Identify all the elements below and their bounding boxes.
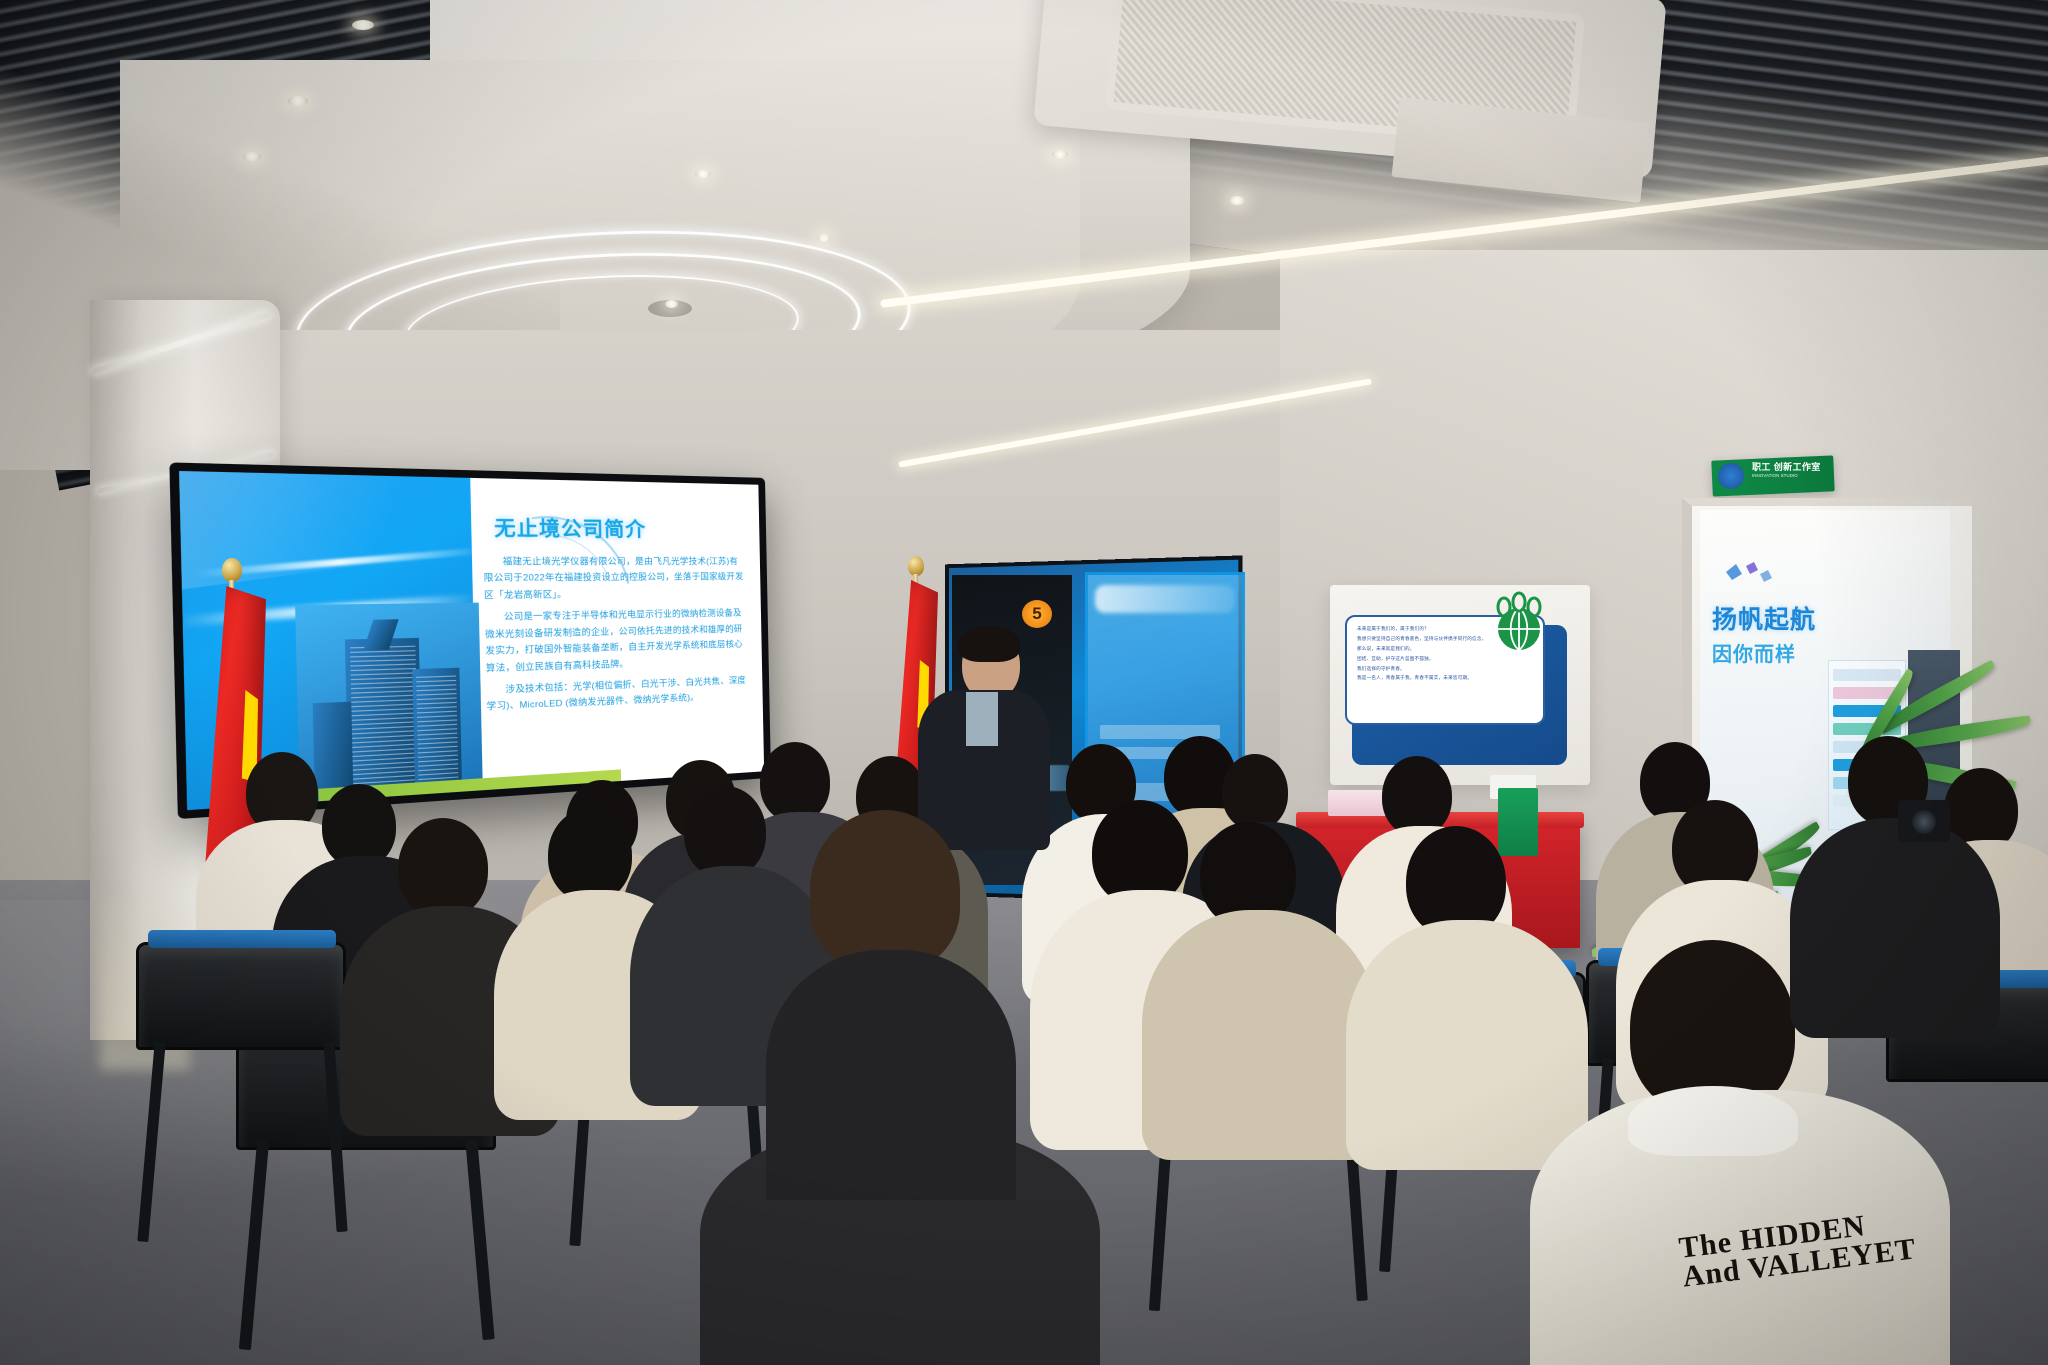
downlight-1 <box>352 20 374 30</box>
wall-sign-green <box>1498 788 1538 856</box>
attendee-body <box>1346 920 1588 1170</box>
studio-sign-title: 职工 创新工作室 <box>1752 462 1821 472</box>
kiosk-glass-highlight <box>1095 585 1235 613</box>
lightbulb-icon <box>1718 463 1744 489</box>
downlight-3 <box>243 152 261 161</box>
slide-paragraph-1: 福建无止境光学仪器有限公司，是由飞凡光学技术(江苏)有限公司于2022年在福建投… <box>483 553 746 604</box>
downlight-8 <box>1229 196 1245 205</box>
attendee-head <box>684 786 766 878</box>
panel-line-6: 我是一名人，青春属于我，青春不属实，未来皆可期。 <box>1357 675 1533 682</box>
globe-people-icon <box>1488 591 1550 653</box>
slide-building-photo <box>295 603 482 803</box>
downlight-5 <box>665 300 678 308</box>
studio-sign-subtitle: INNOVATION STUDIO <box>1752 473 1830 479</box>
slide-paragraph-3: 涉及技术包括：光学(相位偏折、白光干涉、白光共焦、深度学习)、MicroLED … <box>486 672 748 716</box>
slide-paragraph-2: 公司是一家专注于半导体和光电显示行业的微纳检测设备及微米光刻设备研发制造的企业，… <box>484 605 747 677</box>
camera-lens-icon <box>1912 810 1936 834</box>
scene-root: 无止境公司简介 福建无止境光学仪器有限公司，是由飞凡光学技术(江苏)有限公司于2… <box>0 0 2048 1365</box>
kiosk-number-badge: 5 <box>1022 600 1052 628</box>
kite-decor-icon <box>1720 560 1790 590</box>
attendee-body <box>1142 910 1378 1160</box>
downlight-2 <box>288 96 308 106</box>
doorway-headline: 扬帆起航 <box>1712 600 1892 636</box>
hoodie-hood <box>1628 1086 1798 1156</box>
attendee-head <box>548 808 632 902</box>
studio-sign-text: 职工 创新工作室 INNOVATION STUDIO <box>1752 462 1830 479</box>
slide-title: 无止境公司简介 <box>494 513 740 544</box>
downlight-7 <box>1052 150 1068 159</box>
slide-body: 福建无止境光学仪器有限公司，是由飞凡光学技术(江苏)有限公司于2022年在福建投… <box>483 553 748 720</box>
attendee-head <box>760 742 830 822</box>
table-name-card <box>1328 790 1386 816</box>
downlight-4 <box>695 170 711 178</box>
panel-line-5: 我们选择的守护青春。 <box>1357 666 1533 673</box>
attendee-head <box>1382 756 1452 836</box>
attendee-head <box>1222 754 1288 830</box>
attendee-body <box>1790 818 2000 1038</box>
panel-line-4: 团结、互助，护守这片蓝图不孤独， <box>1357 656 1533 663</box>
attendee-head <box>398 818 488 918</box>
attendee-head <box>810 810 960 970</box>
downlight-6 <box>817 234 831 242</box>
attendee-shoulders <box>766 950 1016 1200</box>
